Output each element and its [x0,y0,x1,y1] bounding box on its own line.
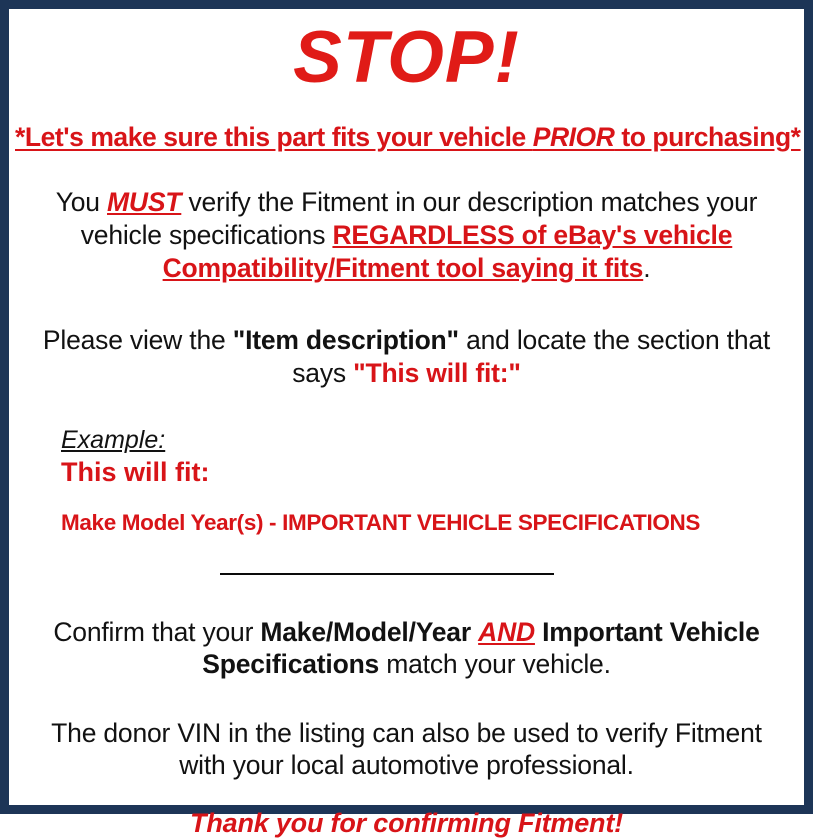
notice-content: STOP! *Let's make sure this part fits yo… [9,9,804,805]
must-verify-paragraph: You MUST verify the Fitment in our descr… [15,152,798,284]
example-label-row: Example: [61,425,798,455]
view-description-paragraph: Please view the "Item description" and l… [15,284,798,389]
confirm-paragraph: Confirm that your Make/Model/Year AND Im… [15,580,798,681]
example-fit-header: This will fit: [61,455,798,487]
subtitle-line: *Let's make sure this part fits your veh… [15,94,798,152]
this-will-fit-emphasis: "This will fit:" [353,358,521,388]
confirm-text-1: Confirm that your [53,617,260,647]
example-label: Example: [61,425,165,455]
example-spec-line: Make Model Year(s) - IMPORTANT VEHICLE S… [61,488,798,536]
make-model-year-emphasis: Make/Model/Year [260,617,471,647]
must-text-1: You [56,187,107,217]
example-block: Example: This will fit: Make Model Year(… [15,389,798,535]
notice-frame: STOP! *Let's make sure this part fits yo… [0,0,813,814]
view-text-1: Please view the [43,325,233,355]
horizontal-rule [220,573,554,575]
and-emphasis: AND [478,617,535,647]
must-emphasis: MUST [107,187,181,217]
stop-headline: STOP! [15,9,798,94]
subtitle-emphasis-prior: PRIOR [533,122,615,152]
divider-wrap [15,536,798,580]
confirm-text-2: match your vehicle. [379,649,611,679]
subtitle-text-after: to purchasing* [614,122,800,152]
must-text-3: . [643,253,650,283]
item-description-emphasis: "Item description" [233,325,459,355]
donor-vin-paragraph: The donor VIN in the listing can also be… [15,681,798,782]
subtitle-text-before: *Let's make sure this part fits your veh… [15,122,533,152]
thank-you-line: Thank you for confirming Fitment! [15,782,798,839]
